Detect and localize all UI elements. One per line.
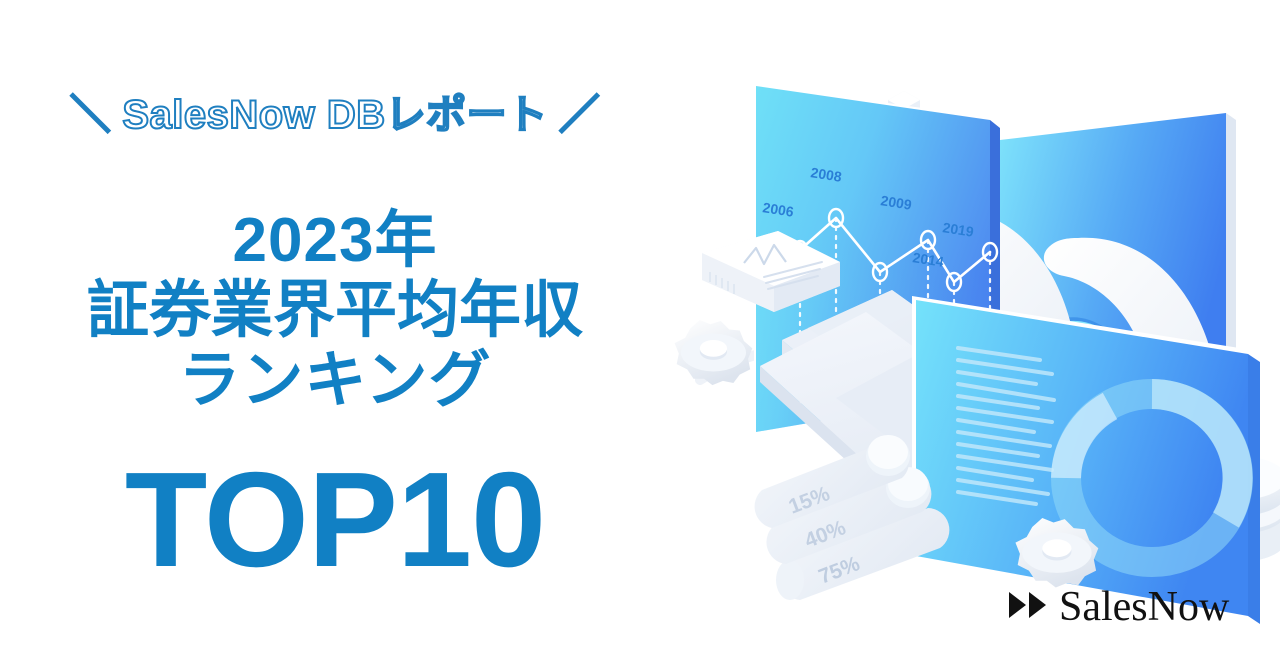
page-title: 2023年 証券業界平均年収 ランキング (0, 206, 670, 416)
title-line-3: ランキング (0, 346, 670, 416)
eyebrow-label: ＼ SalesNow DBレポート ／ (0, 95, 670, 135)
left-text-panel: ＼ SalesNow DBレポート ／ 2023年 証券業界平均年収 ランキング… (0, 0, 670, 670)
title-line-1: 2023年 (0, 206, 670, 276)
hero-illustration: 13 2016 (640, 0, 1280, 670)
highlight-top10: TOP10 (0, 452, 670, 587)
title-line-2: 証券業界平均年収 (0, 276, 670, 346)
poster-canvas: ＼ SalesNow DBレポート ／ 2023年 証券業界平均年収 ランキング… (0, 0, 1280, 670)
logo-wordmark: SalesNow (1059, 586, 1229, 628)
double-chevron-right-icon (1008, 590, 1050, 625)
salesnow-logo: SalesNow (1008, 586, 1229, 628)
